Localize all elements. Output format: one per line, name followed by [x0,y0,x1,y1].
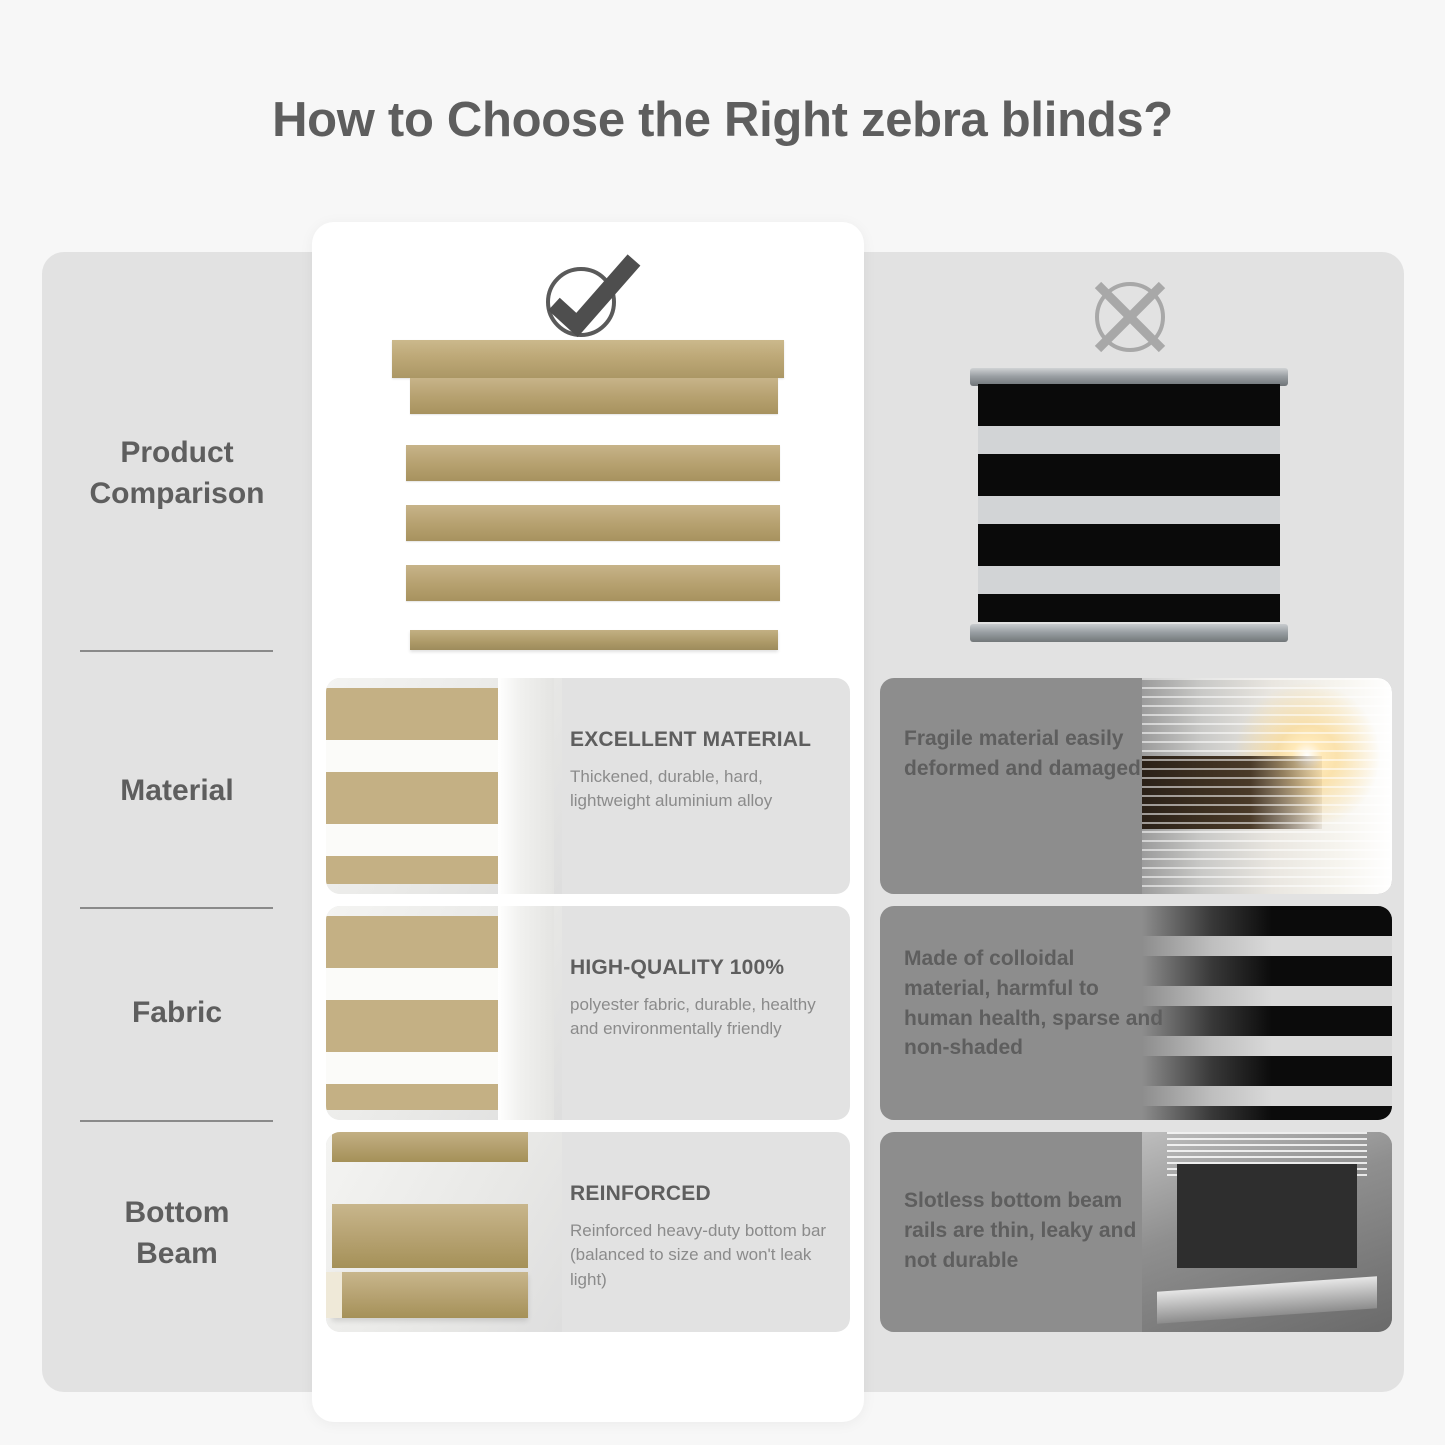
good-feature-card-material: EXCELLENT MATERIAL Thickened, durable, h… [326,678,850,894]
feature-description: Reinforced heavy-duty bottom bar (balanc… [570,1219,836,1292]
feature-text: Fragile material easily deformed and dam… [904,724,1166,784]
feature-title: EXCELLENT MATERIAL [570,728,836,752]
blind-bottom-rail [410,630,778,650]
good-feature-card-fabric: HIGH-QUALITY 100% polyester fabric, dura… [326,906,850,1120]
blind-band [406,505,780,541]
row-label-line1: Product [120,436,233,469]
rail-divider [80,907,273,909]
bad-feature-card-fabric: Made of colloidal material, harmful to h… [880,906,1392,1120]
blind-band [410,378,778,414]
row-label-rail: Product Comparison Material Fabric Botto… [42,252,312,1392]
comparison-infographic: How to Choose the Right zebra blinds? Pr… [0,0,1445,1445]
blind-band [406,565,780,601]
row-label-line1: Fabric [132,996,222,1029]
photo-thin-bottom-rail [1142,1132,1392,1332]
feature-text-block: REINFORCED Reinforced heavy-duty bottom … [570,1182,836,1292]
row-label-line1: Bottom [125,1196,230,1229]
row-label-material: Material [42,770,312,811]
row-label-line2: Comparison [89,477,264,510]
row-label-bottom-beam: Bottom Beam [42,1192,312,1275]
bad-feature-card-bottom-beam: Slotless bottom beam rails are thin, lea… [880,1132,1392,1332]
page-title: How to Choose the Right zebra blinds? [0,92,1445,148]
photo-reinforced-bottom-beam [326,1132,562,1332]
good-feature-card-bottom-beam: REINFORCED Reinforced heavy-duty bottom … [326,1132,850,1332]
blind-bottom-rail [970,624,1288,642]
feature-text: Made of colloidal material, harmful to h… [904,944,1166,1063]
bad-feature-card-material: Fragile material easily deformed and dam… [880,678,1392,894]
feature-description: Thickened, durable, hard, lightweight al… [570,765,836,814]
row-label-product-comparison: Product Comparison [42,432,312,515]
rail-divider [80,650,273,652]
hero-image-black-zebra-blind [968,368,1290,646]
row-label-line2: Beam [136,1237,218,1270]
rail-divider [80,1120,273,1122]
hero-image-beige-zebra-blind [388,340,788,665]
row-label-fabric: Fabric [42,992,312,1033]
feature-title: HIGH-QUALITY 100% [570,956,836,980]
feature-text-block: EXCELLENT MATERIAL Thickened, durable, h… [570,728,836,814]
blind-headrail [392,340,784,378]
feature-text-block: HIGH-QUALITY 100% polyester fabric, dura… [570,956,836,1042]
photo-beige-fabric-closeup [326,906,562,1120]
blind-band [406,445,780,481]
check-circle-icon [534,252,644,342]
cross-circle-icon [1082,272,1178,362]
photo-beige-blind-window [326,678,562,894]
row-label-line1: Material [120,774,233,807]
photo-sparse-black-fabric [1142,906,1392,1120]
feature-title: REINFORCED [570,1182,836,1206]
feature-description: polyester fabric, durable, healthy and e… [570,993,836,1042]
feature-text: Slotless bottom beam rails are thin, lea… [904,1186,1166,1275]
blind-fabric-bands [978,384,1280,622]
photo-sunlight-leak [1142,678,1392,894]
